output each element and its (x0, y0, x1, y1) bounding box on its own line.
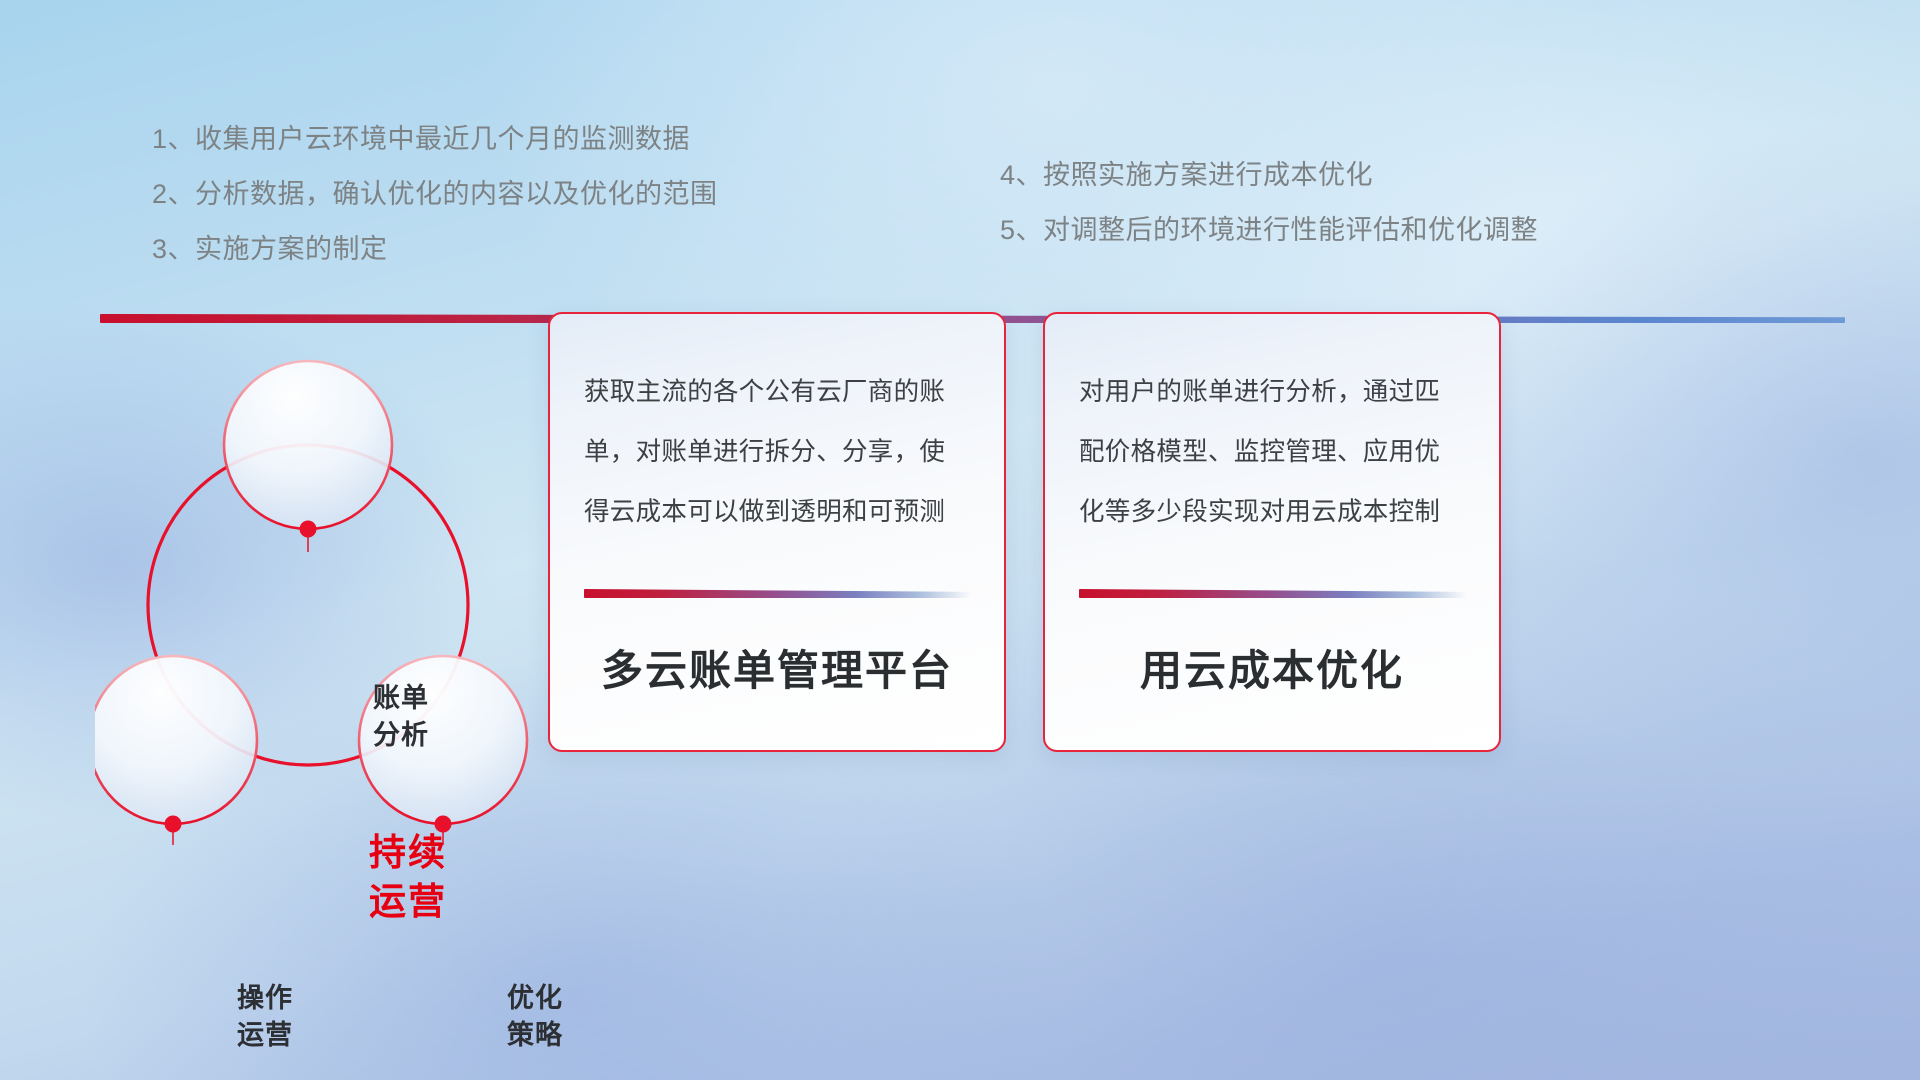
venn-label-optimization-strategy: 优化 策略 (465, 980, 605, 1054)
step-item-5: 5、对调整后的环境进行性能评估和优化调整 (1000, 203, 1538, 258)
venn-label-operations-line2: 运营 (195, 1017, 335, 1054)
venn-label-billing-analysis: 账单 分析 (331, 680, 471, 754)
steps-left-column: 1、收集用户云环境中最近几个月的监测数据 2、分析数据，确认优化的内容以及优化的… (152, 112, 718, 277)
bubble-operations (95, 656, 257, 824)
card-two-title: 用云成本优化 (1045, 637, 1499, 698)
card-multi-cloud-billing-platform[interactable]: 获取主流的各个公有云厂商的账单，对账单进行拆分、分享，使得云成本可以做到透明和可… (548, 312, 1006, 752)
step-item-1: 1、收集用户云环境中最近几个月的监测数据 (152, 112, 718, 167)
junction-dot-top (300, 521, 317, 538)
card-two-divider (1079, 589, 1467, 598)
card-cloud-cost-optimization[interactable]: 对用户的账单进行分析，通过匹配价格模型、监控管理、应用优化等多少段实现对用云成本… (1043, 312, 1501, 752)
step-item-4: 4、按照实施方案进行成本优化 (1000, 148, 1538, 203)
card-two-body: 对用户的账单进行分析，通过匹配价格模型、监控管理、应用优化等多少段实现对用云成本… (1079, 362, 1465, 542)
venn-center-label: 持续 运营 (323, 828, 493, 926)
continuous-operations-diagram: 账单 分析 操作 运营 优化 策略 持续 运营 (95, 350, 565, 910)
venn-label-optimization-strategy-line1: 优化 (465, 980, 605, 1017)
junction-dot-left (165, 816, 182, 833)
card-one-body: 获取主流的各个公有云厂商的账单，对账单进行拆分、分享，使得云成本可以做到透明和可… (584, 362, 970, 542)
venn-center-line2: 运营 (323, 877, 493, 926)
card-one-title: 多云账单管理平台 (550, 637, 1004, 698)
venn-label-operations-line1: 操作 (195, 980, 335, 1017)
venn-label-billing-analysis-line1: 账单 (331, 680, 471, 717)
step-item-2: 2、分析数据，确认优化的内容以及优化的范围 (152, 167, 718, 222)
venn-label-billing-analysis-line2: 分析 (331, 717, 471, 754)
venn-svg (95, 350, 565, 910)
bubble-billing-analysis (224, 361, 392, 529)
venn-center-line1: 持续 (323, 828, 493, 877)
venn-label-operations: 操作 运营 (195, 980, 335, 1054)
step-item-3: 3、实施方案的制定 (152, 222, 718, 277)
steps-right-column: 4、按照实施方案进行成本优化 5、对调整后的环境进行性能评估和优化调整 (1000, 148, 1538, 258)
venn-label-optimization-strategy-line2: 策略 (465, 1017, 605, 1054)
card-one-divider (584, 589, 972, 598)
